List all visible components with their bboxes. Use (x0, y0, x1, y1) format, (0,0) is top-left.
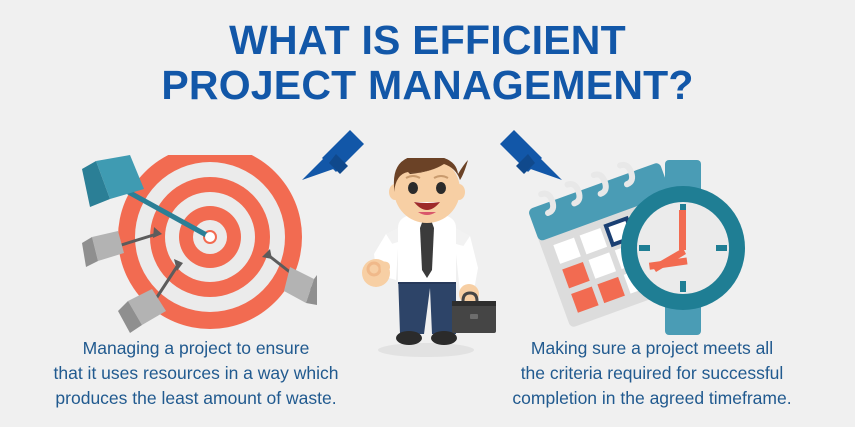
caption-left-line-3: produces the least amount of waste. (26, 386, 366, 411)
trousers (398, 274, 456, 334)
caption-right: Making sure a project meets all the crit… (478, 336, 826, 411)
calendar-clock-illustration (525, 160, 770, 335)
caption-left-line-1: Managing a project to ensure (26, 336, 366, 361)
title-line-1: WHAT IS EFFICIENT (0, 18, 855, 63)
caption-right-line-1: Making sure a project meets all (478, 336, 826, 361)
infographic-canvas: WHAT IS EFFICIENT PROJECT MANAGEMENT? (0, 0, 855, 427)
necktie (420, 220, 434, 278)
page-title: WHAT IS EFFICIENT PROJECT MANAGEMENT? (0, 18, 855, 108)
caption-left-line-2: that it uses resources in a way which (26, 361, 366, 386)
businessman-illustration (352, 158, 502, 358)
title-line-2: PROJECT MANAGEMENT? (0, 63, 855, 108)
dartboard-illustration (82, 155, 317, 335)
ok-hand-gesture (362, 234, 396, 287)
head (389, 158, 468, 223)
caption-left: Managing a project to ensure that it use… (26, 336, 366, 411)
caption-right-line-2: the criteria required for successful (478, 361, 826, 386)
caption-right-line-3: completion in the agreed timeframe. (478, 386, 826, 411)
